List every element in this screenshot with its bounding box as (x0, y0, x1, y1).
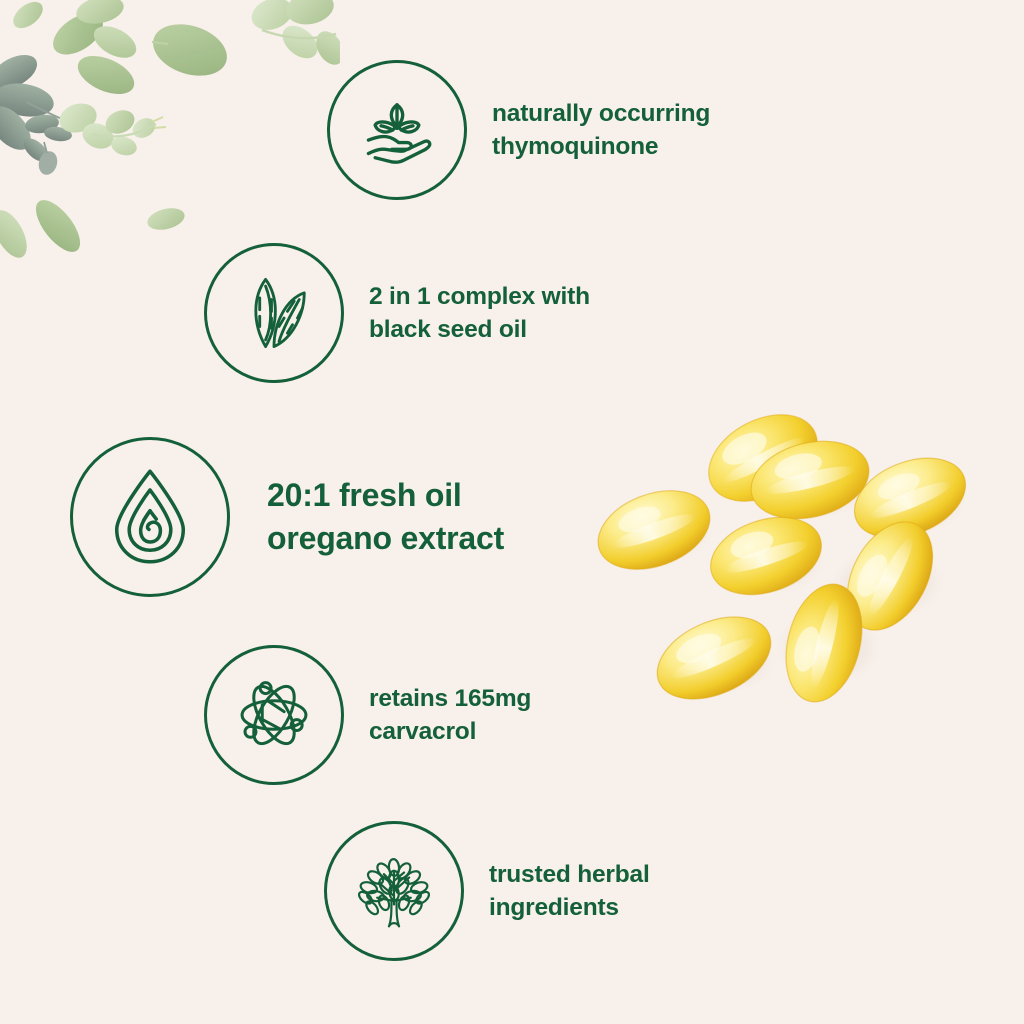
softgel-capsule-cluster (588, 358, 988, 718)
feature-label: trusted herbal ingredients (489, 858, 650, 924)
molecule-atom-icon (204, 645, 344, 785)
feature-row: retains 165mg carvacrol (204, 645, 531, 785)
feature-label: 2 in 1 complex with black seed oil (369, 280, 590, 346)
tree-icon (324, 821, 464, 961)
feature-row: 2 in 1 complex with black seed oil (204, 243, 590, 383)
product-benefits-infographic: naturally occurring thymoquinone 2 in 1 … (0, 0, 1024, 1024)
feature-label: 20:1 fresh oil oregano extract (267, 474, 504, 560)
feature-row: 20:1 fresh oil oregano extract (70, 437, 504, 597)
two-seeds-icon (204, 243, 344, 383)
feature-label: retains 165mg carvacrol (369, 682, 531, 748)
feature-row: naturally occurring thymoquinone (327, 60, 710, 200)
oil-droplet-spiral-icon (70, 437, 230, 597)
feature-label: naturally occurring thymoquinone (492, 97, 710, 163)
feature-row: trusted herbal ingredients (324, 821, 650, 961)
hand-holding-plant-icon (327, 60, 467, 200)
